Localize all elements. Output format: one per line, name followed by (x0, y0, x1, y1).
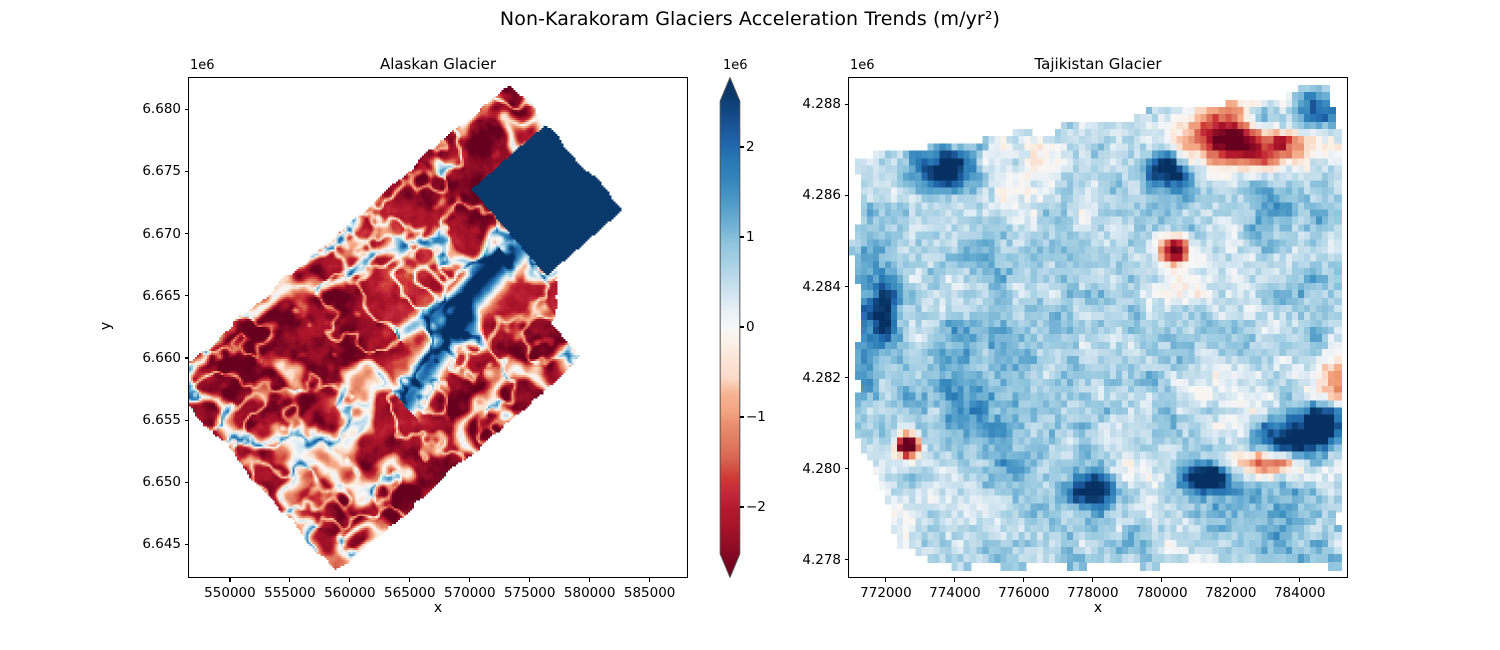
figure-canvas: Non-Karakoram Glaciers Acceleration Tren… (0, 0, 1500, 650)
left-ytick-5 (185, 420, 189, 421)
raster-image-tajikistan-glacier (849, 78, 1347, 577)
left-xtick-7 (649, 578, 650, 582)
left-xticklabel-1: 555000 (264, 585, 316, 601)
left-xticklabel-6: 580000 (564, 585, 616, 601)
colorbar-ticklabel-0: 2 (746, 139, 755, 155)
panel-title-tajikistan-glacier: Tajikistan Glacier (848, 55, 1348, 73)
left-xtick-6 (589, 578, 590, 582)
right-xticklabel-2: 776000 (998, 585, 1050, 601)
left-yticklabel-0: 6.680 (93, 101, 181, 117)
colorbar-tick-1 (740, 236, 744, 237)
right-ytick-4 (845, 468, 849, 469)
right-xtick-1 (954, 578, 955, 582)
left-ytick-4 (185, 357, 189, 358)
left-yticklabel-3: 6.665 (93, 288, 181, 304)
colorbar-tick-2 (740, 326, 744, 327)
right-xtick-6 (1299, 578, 1300, 582)
colorbar-tick-4 (740, 506, 744, 507)
right-ytick-5 (845, 559, 849, 560)
colorbar-tick-3 (740, 416, 744, 417)
right-ytick-0 (845, 104, 849, 105)
right-xticklabel-6: 784000 (1274, 585, 1326, 601)
right-xticklabel-5: 782000 (1205, 585, 1257, 601)
plot-area-alaskan-glacier[interactable] (188, 77, 688, 578)
left-xticklabel-4: 570000 (444, 585, 496, 601)
right-yticklabel-4: 4.280 (753, 461, 841, 477)
colorbar-ticklabel-3: −1 (746, 409, 766, 425)
right-xtick-4 (1161, 578, 1162, 582)
panel-title-alaskan-glacier: Alaskan Glacier (188, 55, 688, 73)
right-yticklabel-3: 4.282 (753, 370, 841, 386)
left-xticklabel-3: 565000 (384, 585, 436, 601)
x-axis-label-left: x (188, 600, 688, 616)
right-xtick-3 (1092, 578, 1093, 582)
left-yticklabel-7: 6.645 (93, 536, 181, 552)
left-ytick-6 (185, 482, 189, 483)
x-axis-label-right: x (848, 600, 1348, 616)
left-xtick-5 (529, 578, 530, 582)
left-ytick-7 (185, 544, 189, 545)
right-ytick-1 (845, 195, 849, 196)
left-ytick-1 (185, 171, 189, 172)
left-yticklabel-2: 6.670 (93, 226, 181, 242)
raster-image-alaskan-glacier (189, 78, 687, 577)
y-axis-offset-label-right: 1e6 (850, 58, 875, 73)
left-ytick-3 (185, 295, 189, 296)
right-yticklabel-2: 4.284 (753, 279, 841, 295)
left-xticklabel-7: 585000 (624, 585, 676, 601)
right-xtick-0 (885, 578, 886, 582)
plot-area-tajikistan-glacier[interactable] (848, 77, 1348, 578)
left-yticklabel-4: 6.660 (93, 350, 181, 366)
right-yticklabel-5: 4.278 (753, 552, 841, 568)
left-xticklabel-2: 560000 (324, 585, 376, 601)
right-xticklabel-4: 780000 (1136, 585, 1188, 601)
left-xtick-2 (349, 578, 350, 582)
left-xtick-0 (229, 578, 230, 582)
right-xticklabel-1: 774000 (929, 585, 981, 601)
colorbar-tick-0 (740, 146, 744, 147)
right-xtick-5 (1230, 578, 1231, 582)
right-yticklabel-1: 4.286 (753, 187, 841, 203)
left-xticklabel-0: 550000 (204, 585, 256, 601)
left-xticklabel-5: 575000 (504, 585, 556, 601)
right-yticklabel-0: 4.288 (753, 96, 841, 112)
figure-suptitle: Non-Karakoram Glaciers Acceleration Tren… (0, 8, 1500, 30)
left-ytick-0 (185, 109, 189, 110)
colorbar-ticklabel-2: 0 (746, 319, 755, 335)
left-yticklabel-5: 6.655 (93, 412, 181, 428)
left-xtick-4 (469, 578, 470, 582)
left-yticklabel-1: 6.675 (93, 163, 181, 179)
colorbar[interactable] (719, 77, 741, 578)
left-xtick-1 (289, 578, 290, 582)
colorbar-ticklabel-1: 1 (746, 229, 755, 245)
colorbar-gradient (719, 77, 741, 578)
colorbar-ticklabel-4: −2 (746, 499, 766, 515)
right-ytick-3 (845, 377, 849, 378)
right-xticklabel-0: 772000 (860, 585, 912, 601)
left-ytick-2 (185, 233, 189, 234)
left-xtick-3 (409, 578, 410, 582)
y-axis-offset-label-left: 1e6 (190, 58, 215, 73)
right-xtick-2 (1023, 578, 1024, 582)
right-ytick-2 (845, 286, 849, 287)
left-yticklabel-6: 6.650 (93, 474, 181, 490)
y-axis-label-left: y (98, 306, 114, 346)
colorbar-offset-label: 1e6 (723, 58, 748, 73)
right-xticklabel-3: 778000 (1067, 585, 1119, 601)
